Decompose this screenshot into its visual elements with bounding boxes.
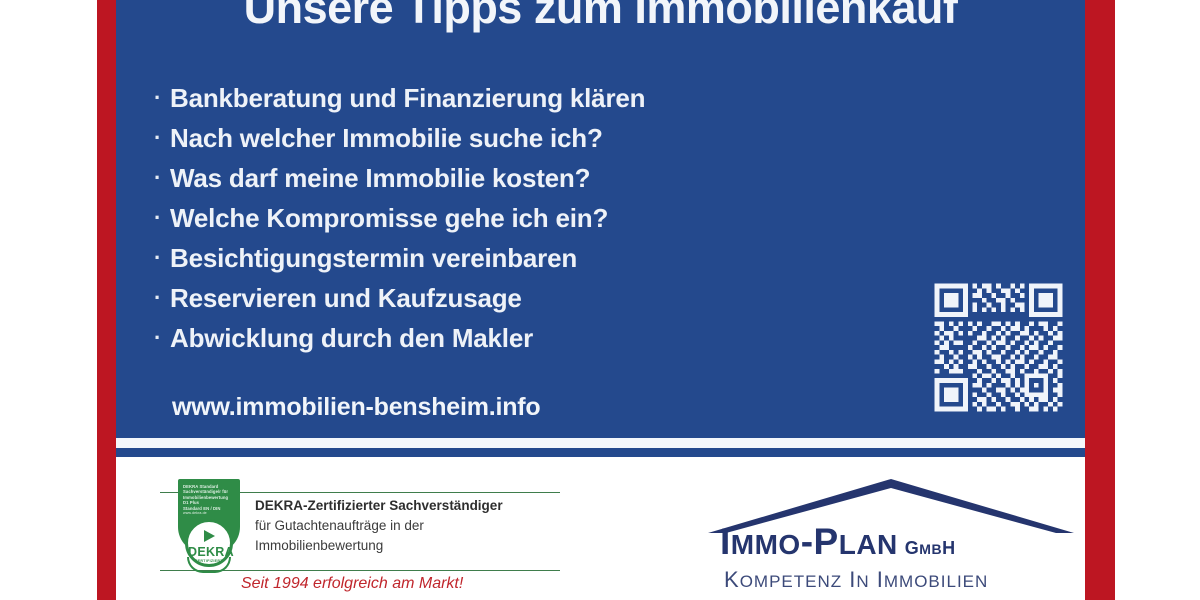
panel-separator-gap [116, 438, 1085, 448]
company-slogan: Seit 1994 erfolgreich am Markt! [241, 575, 463, 593]
immoplan-wordmark: IMMO-PLANGMBH [720, 521, 956, 563]
list-item-label: Abwicklung durch den Makler [170, 323, 533, 353]
website-url[interactable]: www.immobilien-bensheim.info [172, 393, 541, 422]
gmbh-mb: MB [919, 541, 942, 557]
tips-list: ·Bankberatung und Finanzierung klären ·N… [154, 78, 645, 358]
tagline-mmobilien: MMOBILIEN [884, 572, 988, 591]
list-item: ·Besichtigungstermin vereinbaren [154, 238, 645, 278]
list-item-label: Besichtigungstermin vereinbaren [170, 243, 577, 273]
list-item: ·Bankberatung und Finanzierung klären [154, 78, 645, 118]
bullet-icon: · [154, 118, 170, 158]
gmbh-h: H [942, 538, 956, 558]
logo-mmo: MMO [731, 529, 801, 560]
play-triangle-icon [204, 530, 215, 542]
list-item: ·Nach welcher Immobilie suche ich? [154, 118, 645, 158]
bullet-icon: · [154, 158, 170, 198]
immoplan-tagline: KOMPETENZ IN IMMOBILIEN [724, 567, 988, 593]
bullet-icon: · [154, 238, 170, 278]
seal-ribbon-label: ZERTIFIZIERT [189, 559, 229, 563]
seal-ribbon-arc: ZERTIFIZIERT [187, 557, 231, 573]
list-item-label: Bankberatung und Finanzierung klären [170, 83, 645, 113]
bullet-icon: · [154, 278, 170, 318]
tagline-n: N [856, 572, 869, 591]
panel-separator-line [116, 448, 1085, 457]
list-item-label: Was darf meine Immobilie kosten? [170, 163, 590, 193]
tagline-k: K [724, 567, 740, 592]
qr-code-icon[interactable] [930, 279, 1067, 416]
page-title: Unsere Tipps zum Immobilienkauf [116, 0, 1085, 34]
dekra-text-block: DEKRA-Zertifizierter Sachverständiger fü… [255, 496, 503, 556]
dekra-subline-1: für Gutachtenaufträge in der [255, 516, 503, 536]
hero-panel: Unsere Tipps zum Immobilienkauf ·Bankber… [116, 0, 1085, 438]
dekra-heading: DEKRA-Zertifizierter Sachverständiger [255, 496, 503, 516]
flyer-screen: Unsere Tipps zum Immobilienkauf ·Bankber… [0, 0, 1200, 600]
dekra-subline-2: Immobilienbewertung [255, 536, 503, 556]
list-item: ·Reservieren und Kaufzusage [154, 278, 645, 318]
seal-microtext-url: www.dekra.de [183, 511, 237, 516]
dekra-seal-icon: DEKRA Standard Sachverständige/r für Imm… [178, 479, 240, 575]
list-item-label: Welche Kompromisse gehe ich ein? [170, 203, 608, 233]
red-accent-bar-right [1085, 0, 1115, 600]
tagline-ompetenz: OMPETENZ [740, 572, 842, 591]
tagline-i2: I [870, 567, 884, 592]
tagline-i1: I [842, 567, 856, 592]
red-accent-bar-left [97, 0, 116, 600]
logo-i: I [720, 521, 731, 562]
list-item-label: Reservieren und Kaufzusage [170, 283, 522, 313]
bullet-icon: · [154, 318, 170, 358]
footer-panel: DEKRA Standard Sachverständige/r für Imm… [116, 457, 1085, 600]
logo-lan: LAN [839, 529, 898, 560]
list-item-label: Nach welcher Immobilie suche ich? [170, 123, 603, 153]
bullet-icon: · [154, 198, 170, 238]
logo-dash-p: -P [801, 521, 839, 562]
logo-gmbh: GMBH [905, 538, 956, 558]
seal-microtext: DEKRA Standard Sachverständige/r für Imm… [183, 484, 237, 516]
list-item: ·Welche Kompromisse gehe ich ein? [154, 198, 645, 238]
list-item: ·Was darf meine Immobilie kosten? [154, 158, 645, 198]
gmbh-g: G [905, 538, 920, 558]
list-item: ·Abwicklung durch den Makler [154, 318, 645, 358]
bullet-icon: · [154, 78, 170, 118]
immoplan-logo[interactable]: IMMO-PLANGMBH KOMPETENZ IN IMMOBILIEN [706, 475, 1076, 600]
